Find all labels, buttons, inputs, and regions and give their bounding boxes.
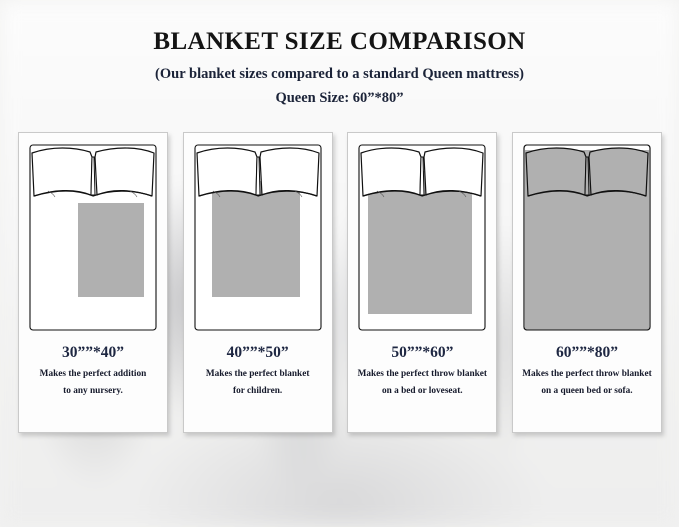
bed-illustration xyxy=(183,133,333,338)
caption-line-2: on a queen bed or sofa. xyxy=(522,383,651,400)
size-label: 40””*50” xyxy=(227,344,289,361)
blanket-rect xyxy=(212,181,300,297)
bed-illustration xyxy=(18,133,168,338)
queen-size-note: Queen Size: 60”*80” xyxy=(0,90,679,107)
caption-line-2: to any nursery. xyxy=(40,383,147,400)
bed-top-view-icon xyxy=(183,133,333,338)
bed-illustration xyxy=(347,133,497,338)
comparison-panel: 60””*80” Makes the perfect throw blanket… xyxy=(512,132,662,433)
bed-top-view-icon xyxy=(18,133,168,338)
panel-caption: Makes the perfect throw blanket on a bed… xyxy=(354,366,491,400)
panel-caption: Makes the perfect addition to any nurser… xyxy=(36,366,151,400)
infographic-sheet: BLANKET SIZE COMPARISON (Our blanket siz… xyxy=(0,0,679,527)
caption-line-2: for children. xyxy=(206,383,310,400)
size-label: 50””*60” xyxy=(391,344,453,361)
comparison-panel: 30””*40” Makes the perfect addition to a… xyxy=(18,132,168,433)
size-label: 60””*80” xyxy=(556,344,618,361)
comparison-panel-row: 30””*40” Makes the perfect addition to a… xyxy=(18,132,662,433)
size-label: 30””*40” xyxy=(62,344,124,361)
comparison-panel: 40””*50” Makes the perfect blanket for c… xyxy=(183,132,333,433)
page-title: BLANKET SIZE COMPARISON xyxy=(0,28,679,56)
caption-line-1: Makes the perfect throw blanket xyxy=(358,369,487,379)
caption-line-1: Makes the perfect blanket xyxy=(206,369,310,379)
blanket-rect xyxy=(78,203,144,297)
panel-caption: Makes the perfect blanket for children. xyxy=(202,366,314,400)
caption-line-1: Makes the perfect addition xyxy=(40,369,147,379)
panel-caption: Makes the perfect throw blanket on a que… xyxy=(518,366,655,400)
bed-illustration xyxy=(512,133,662,338)
bed-top-view-icon xyxy=(512,133,662,338)
bed-top-view-icon xyxy=(347,133,497,338)
page-subtitle: (Our blanket sizes compared to a standar… xyxy=(0,66,679,83)
caption-line-1: Makes the perfect throw blanket xyxy=(522,369,651,379)
caption-line-2: on a bed or loveseat. xyxy=(358,383,487,400)
comparison-panel: 50””*60” Makes the perfect throw blanket… xyxy=(347,132,497,433)
